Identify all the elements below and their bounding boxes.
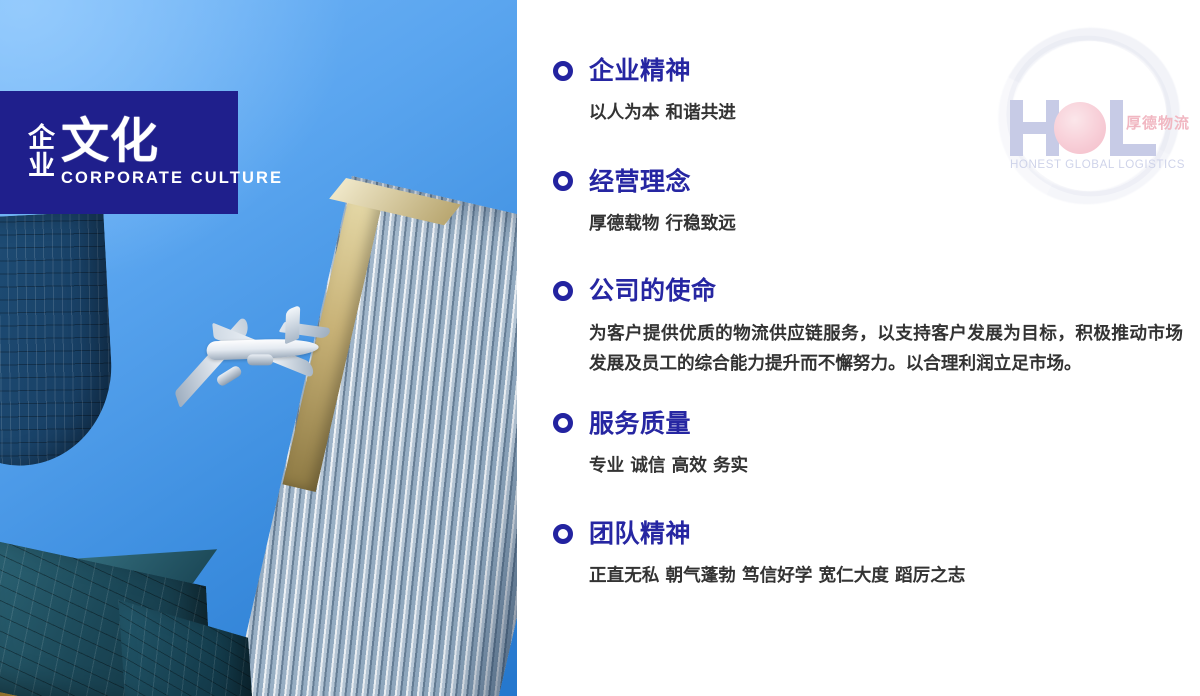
section-title: 团队精神 [589, 521, 691, 546]
page-subtitle: CORPORATE CULTURE [61, 169, 283, 188]
culture-section-list: 企业精神 以人为本 和谐共进 经营理念 厚德载物 行稳致远 公司的使命 为客户提… [517, 0, 1200, 586]
section-title: 经营理念 [589, 169, 691, 194]
section-body: 为客户提供优质的物流供应链服务，以支持客户发展为目标，积极推动市场发展及员工的综… [589, 319, 1183, 380]
section-body: 厚德载物 行稳致远 [589, 216, 1200, 234]
section-body: 正直无私 朝气蓬勃 笃信好学 宽仁大度 蹈厉之志 [589, 568, 1200, 586]
content-panel: 厚德物流 HONEST GLOBAL LOGISTICS 企业精神 以人为本 和… [517, 0, 1200, 696]
section-header: 经营理念 [517, 169, 1200, 194]
page-title: 文化 [61, 117, 283, 165]
bullet-ring-icon [553, 171, 573, 191]
bullet-ring-icon [553, 524, 573, 544]
section-title: 企业精神 [589, 58, 691, 83]
section-business-philosophy: 经营理念 厚德载物 行稳致远 [517, 169, 1200, 234]
page-title-box: 企 业 文化 CORPORATE CULTURE [0, 91, 238, 214]
title-stacked-chars: 企 业 [28, 117, 55, 188]
bullet-ring-icon [553, 413, 573, 433]
section-header: 团队精神 [517, 521, 1200, 546]
glass-tower-rounded [0, 211, 116, 471]
airplane-fin [285, 305, 300, 345]
airplane-engine-left [215, 364, 243, 387]
bullet-ring-icon [553, 61, 573, 81]
section-header: 公司的使命 [517, 278, 1200, 303]
title-stacked-char-1: 企 [28, 125, 55, 153]
section-company-mission: 公司的使命 为客户提供优质的物流供应链服务，以支持客户发展为目标，积极推动市场发… [517, 278, 1200, 380]
section-title: 服务质量 [589, 411, 691, 436]
bullet-ring-icon [553, 281, 573, 301]
section-body: 以人为本 和谐共进 [589, 105, 1200, 123]
corporate-culture-page: 企 业 文化 CORPORATE CULTURE 厚德物流 HON [0, 0, 1200, 696]
section-title: 公司的使命 [589, 278, 717, 303]
section-team-spirit: 团队精神 正直无私 朝气蓬勃 笃信好学 宽仁大度 蹈厉之志 [517, 521, 1200, 586]
section-header: 服务质量 [517, 411, 1200, 436]
hero-photo: 企 业 文化 CORPORATE CULTURE [0, 0, 517, 696]
section-body: 专业 诚信 高效 务实 [589, 458, 1200, 476]
airplane-engine-right [247, 354, 273, 365]
section-service-quality: 服务质量 专业 诚信 高效 务实 [517, 411, 1200, 476]
title-stacked-char-2: 业 [28, 153, 55, 181]
section-corporate-spirit: 企业精神 以人为本 和谐共进 [517, 58, 1200, 123]
section-header: 企业精神 [517, 58, 1200, 83]
